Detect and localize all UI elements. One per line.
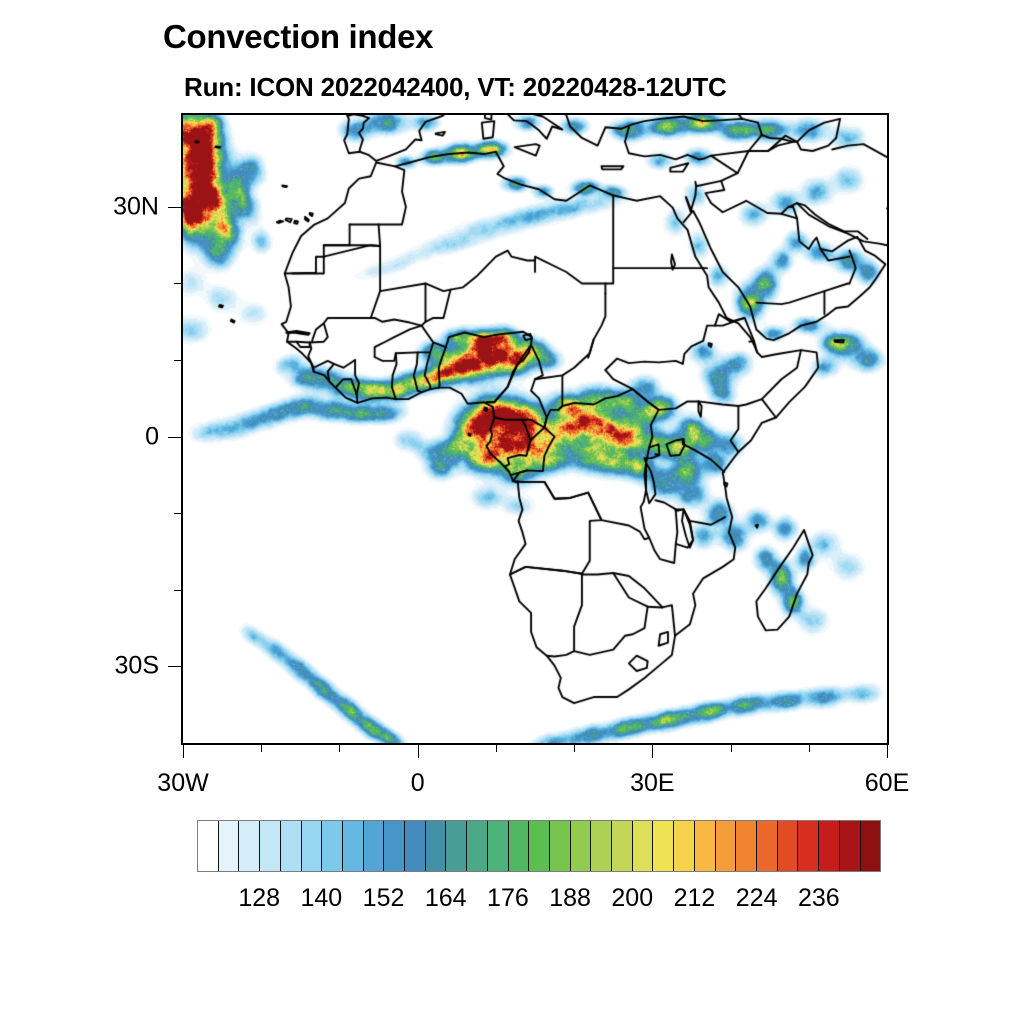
colorbar-cell bbox=[302, 821, 323, 871]
colorbar-cell bbox=[488, 821, 509, 871]
colorbar bbox=[197, 820, 881, 872]
colorbar-cell bbox=[446, 821, 467, 871]
x-axis-major-tick bbox=[183, 745, 184, 758]
y-axis-label: 30S bbox=[115, 652, 159, 681]
colorbar-cell bbox=[757, 821, 778, 871]
colorbar-cell bbox=[198, 821, 219, 871]
colorbar-cell bbox=[281, 821, 302, 871]
colorbar-cell bbox=[405, 821, 426, 871]
colorbar-tick-label: 152 bbox=[363, 884, 405, 913]
colorbar-cell bbox=[219, 821, 240, 871]
colorbar-tick-label: 200 bbox=[611, 884, 653, 913]
x-axis-minor-tick bbox=[809, 745, 810, 752]
x-axis-label: 30E bbox=[630, 769, 674, 798]
x-axis-minor-tick bbox=[496, 745, 497, 752]
y-axis-label: 0 bbox=[145, 422, 159, 451]
colorbar-tick-label: 188 bbox=[549, 884, 591, 913]
colorbar-cell bbox=[840, 821, 861, 871]
colorbar-cell bbox=[467, 821, 488, 871]
x-axis-major-tick bbox=[652, 745, 653, 758]
run-valid-time-subtitle: Run: ICON 2022042400, VT: 20220428-12UTC bbox=[184, 72, 727, 103]
convection-index-figure: Convection index Run: ICON 2022042400, V… bbox=[0, 0, 1024, 1024]
colorbar-cell bbox=[591, 821, 612, 871]
colorbar-cell bbox=[861, 821, 881, 871]
colorbar-cell bbox=[509, 821, 530, 871]
colorbar-cell bbox=[695, 821, 716, 871]
y-axis-minor-tick bbox=[174, 360, 181, 361]
x-axis-label: 30W bbox=[157, 769, 208, 798]
colorbar-tick-label: 176 bbox=[487, 884, 529, 913]
x-axis-minor-tick bbox=[574, 745, 575, 752]
x-axis-label: 60E bbox=[865, 769, 909, 798]
colorbar-cell bbox=[426, 821, 447, 871]
colorbar-tick-label: 212 bbox=[674, 884, 716, 913]
page-title: Convection index bbox=[163, 18, 433, 56]
colorbar-cell bbox=[798, 821, 819, 871]
colorbar-tick-label: 140 bbox=[301, 884, 343, 913]
y-axis-major-tick bbox=[168, 437, 181, 438]
colorbar-tick-label: 164 bbox=[425, 884, 467, 913]
colorbar-cell bbox=[364, 821, 385, 871]
y-axis-major-tick bbox=[168, 207, 181, 208]
colorbar-cell bbox=[778, 821, 799, 871]
x-axis-major-tick bbox=[418, 745, 419, 758]
y-axis-major-tick bbox=[168, 666, 181, 667]
colorbar-cell bbox=[550, 821, 571, 871]
colorbar-cell bbox=[716, 821, 737, 871]
convection-index-heatmap bbox=[183, 115, 887, 743]
colorbar-cell bbox=[612, 821, 633, 871]
colorbar-cell bbox=[633, 821, 654, 871]
colorbar-cell bbox=[819, 821, 840, 871]
colorbar-cell bbox=[384, 821, 405, 871]
colorbar-cell bbox=[239, 821, 260, 871]
colorbar-tick-label: 224 bbox=[736, 884, 778, 913]
y-axis-label: 30N bbox=[113, 192, 159, 221]
y-axis-minor-tick bbox=[174, 283, 181, 284]
colorbar-cell bbox=[322, 821, 343, 871]
colorbar-tick-label: 236 bbox=[798, 884, 840, 913]
x-axis-major-tick bbox=[887, 745, 888, 758]
colorbar-cell bbox=[529, 821, 550, 871]
x-axis-minor-tick bbox=[261, 745, 262, 752]
colorbar-cell bbox=[260, 821, 281, 871]
y-axis-minor-tick bbox=[174, 590, 181, 591]
y-axis-minor-tick bbox=[174, 513, 181, 514]
x-axis-label: 0 bbox=[411, 769, 425, 798]
colorbar-cell bbox=[674, 821, 695, 871]
map-plot-area bbox=[181, 113, 889, 745]
colorbar-tick-labels: 128140152164176188200212224236 bbox=[197, 884, 881, 916]
colorbar-tick-label: 128 bbox=[238, 884, 280, 913]
colorbar-cell bbox=[736, 821, 757, 871]
x-axis-minor-tick bbox=[339, 745, 340, 752]
x-axis-minor-tick bbox=[731, 745, 732, 752]
colorbar-cell bbox=[571, 821, 592, 871]
colorbar-cell bbox=[653, 821, 674, 871]
colorbar-cell bbox=[343, 821, 364, 871]
